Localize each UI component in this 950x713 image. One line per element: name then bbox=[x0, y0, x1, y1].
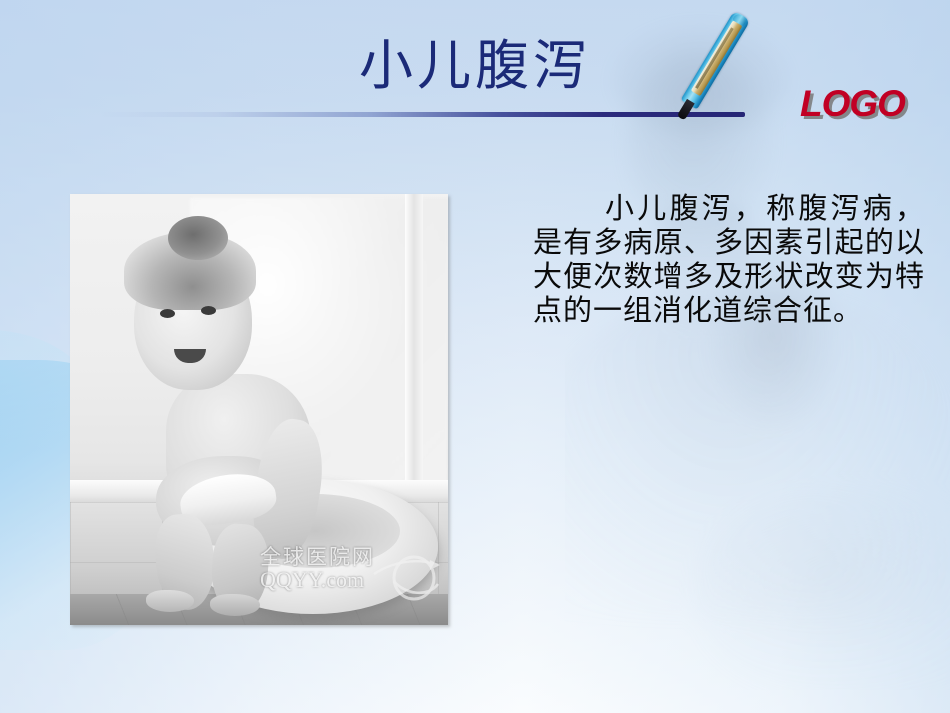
content-photo-child-on-potty: 全球医院网 QQYY.com bbox=[70, 194, 448, 625]
logo-text: LOGO bbox=[800, 84, 905, 124]
photo-window-frame bbox=[405, 194, 423, 494]
header-divider-line bbox=[100, 112, 745, 117]
photo-child-eye-left bbox=[160, 309, 175, 318]
thermometer-tip bbox=[677, 99, 695, 121]
body-paragraph: 小儿腹泻，称腹泻病，是有多病原、多因素引起的以大便次数增多及形状改变为特点的一组… bbox=[533, 192, 925, 328]
photo-child-hair-bun bbox=[168, 216, 228, 260]
ghost-body-shape bbox=[565, 290, 950, 620]
photo-child-foot-left bbox=[146, 590, 194, 612]
ghost-arm-shape bbox=[695, 490, 950, 690]
presentation-slide: 小儿腹泻 LOGO 全球医院网 QQYY.com bbox=[0, 0, 950, 713]
photo-child-foot-right bbox=[210, 594, 260, 616]
photo-child-eye-right bbox=[201, 306, 216, 315]
